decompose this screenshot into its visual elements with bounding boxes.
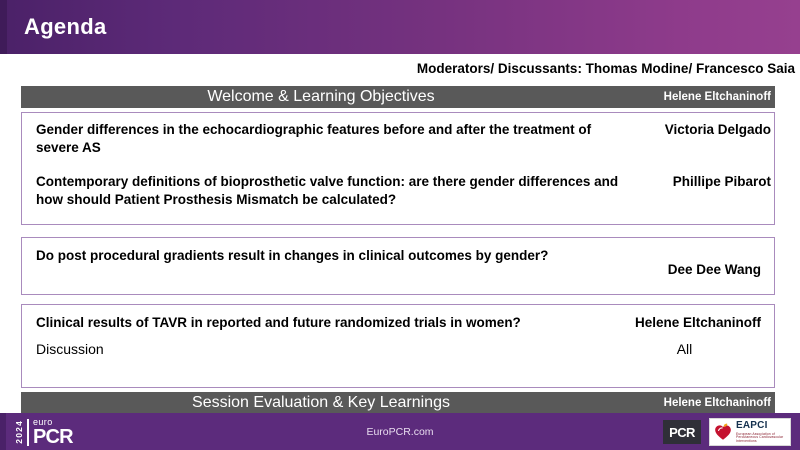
agenda-block-2: Do post procedural gradients result in c… [21, 237, 775, 295]
moderators-line: Moderators/ Discussants: Thomas Modine/ … [20, 60, 795, 77]
heart-icon [713, 422, 733, 442]
header-edge-strip [0, 0, 7, 54]
eapci-subtitle: European Association of Percutaneous Car… [736, 433, 787, 443]
agenda-topic: Clinical results of TAVR in reported and… [22, 314, 622, 332]
agenda-row: Clinical results of TAVR in reported and… [22, 305, 774, 332]
agenda-row: Discussion All [22, 332, 774, 358]
agenda-topic: Discussion [22, 340, 622, 358]
section-bar-welcome: Welcome & Learning Objectives Helene Elt… [21, 86, 775, 108]
section-speaker-session-evaluation: Helene Eltchaninoff [664, 395, 771, 411]
section-speaker-welcome: Helene Eltchaninoff [664, 89, 771, 105]
agenda-block-1: Gender differences in the echocardiograp… [21, 112, 775, 225]
section-title-welcome: Welcome & Learning Objectives [21, 87, 621, 107]
section-title-session-evaluation: Session Evaluation & Key Learnings [21, 393, 621, 413]
agenda-row: Gender differences in the echocardiograp… [22, 113, 774, 157]
eapci-name: EAPCI [736, 421, 787, 431]
footer-band: 2024 euro PCR EuroPCR.com PCR EAPCI Euro… [0, 413, 800, 450]
agenda-speaker: All [622, 340, 767, 358]
agenda-speaker: Phillipe Pibarot [632, 173, 777, 191]
eapci-wordmark: EAPCI European Association of Percutaneo… [736, 421, 787, 443]
agenda-topic: Do post procedural gradients result in c… [22, 247, 622, 265]
agenda-topic: Gender differences in the echocardiograp… [22, 121, 632, 157]
section-bar-session-evaluation: Session Evaluation & Key Learnings Helen… [21, 392, 775, 414]
header-band: Agenda [0, 0, 800, 54]
agenda-row: Do post procedural gradients result in c… [22, 238, 774, 279]
agenda-row: Contemporary definitions of bioprostheti… [22, 157, 774, 209]
agenda-speaker: Victoria Delgado [632, 121, 777, 139]
agenda-speaker: Helene Eltchaninoff [622, 314, 767, 332]
pcr-badge-logo: PCR [663, 420, 701, 444]
eapci-logo: EAPCI European Association of Percutaneo… [709, 418, 791, 446]
agenda-speaker: Dee Dee Wang [622, 247, 767, 279]
agenda-block-3: Clinical results of TAVR in reported and… [21, 304, 775, 388]
agenda-topic: Contemporary definitions of bioprostheti… [22, 173, 632, 209]
page-title: Agenda [24, 13, 106, 41]
